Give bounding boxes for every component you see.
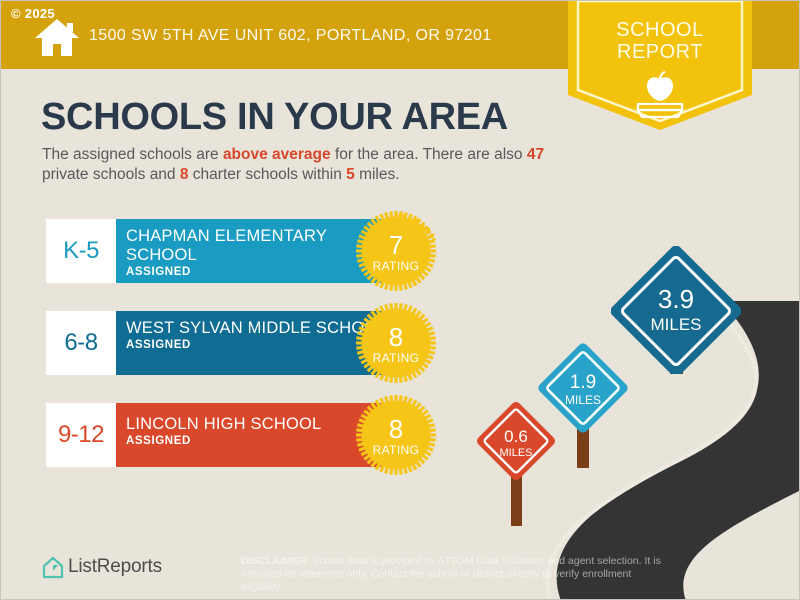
grade-range-box: 6-8 <box>46 311 116 375</box>
rating-value: 8 <box>356 322 436 353</box>
school-row-middle[interactable]: 6-8 WEST SYLVAN MIDDLE SCHOOL ASSIGNED <box>46 311 396 375</box>
badge-line-2: REPORT <box>568 41 752 63</box>
school-row-high[interactable]: 9-12 LINCOLN HIGH SCHOOL ASSIGNED <box>46 403 396 467</box>
subtitle-part-2: for the area. There are also <box>331 146 527 163</box>
sign-distance-value: 0.6 <box>504 427 528 446</box>
subtitle-text: The assigned schools are above average f… <box>42 145 562 185</box>
subtitle-part-5: miles. <box>355 166 400 183</box>
sign-unit-label: MILES <box>499 447 532 459</box>
badge-line-1: SCHOOL <box>568 19 752 41</box>
subtitle-part-1: The assigned schools are <box>42 146 223 163</box>
rating-caption: RATING <box>356 351 436 365</box>
disclaimer-title: DISCLAIMER <box>241 555 306 567</box>
grade-range-label: 6-8 <box>64 329 97 357</box>
rating-caption: RATING <box>356 443 436 457</box>
school-bar: WEST SYLVAN MIDDLE SCHOOL ASSIGNED <box>116 311 396 375</box>
listreports-logo[interactable]: ListReports <box>42 554 182 582</box>
subtitle-highlight-private-count: 47 <box>527 146 544 163</box>
badge-title: SCHOOL REPORT <box>568 19 752 63</box>
road-illustration: 3.9 MILES 1.9 MILES 0.6 MILES <box>471 246 800 600</box>
subtitle-part-4: charter schools within <box>188 166 346 183</box>
sign-distance-value: 1.9 <box>570 372 596 393</box>
grade-range-label: K-5 <box>63 237 99 265</box>
rating-caption: RATING <box>356 259 436 273</box>
subtitle-part-3: private schools and <box>42 166 180 183</box>
rating-badge: 8 RATING <box>356 303 436 383</box>
disclaimer-text: DISCLAIMER: School data is provided by A… <box>241 555 671 594</box>
sign-distance-value: 3.9 <box>658 284 694 314</box>
rating-badge: 7 RATING <box>356 211 436 291</box>
subtitle-highlight-radius: 5 <box>346 166 355 183</box>
house-logo-icon <box>42 556 64 580</box>
grade-range-box: K-5 <box>46 219 116 283</box>
page-title: SCHOOLS IN YOUR AREA <box>41 96 508 139</box>
school-report-badge: SCHOOL REPORT <box>568 0 752 129</box>
rating-value: 8 <box>356 414 436 445</box>
distance-sign-1: 0.6 MILES <box>471 396 563 531</box>
infographic-page: © 2025 1500 SW 5TH AVE UNIT 602, PORTLAN… <box>0 0 800 600</box>
property-address: 1500 SW 5TH AVE UNIT 602, PORTLAND, OR 9… <box>89 27 492 45</box>
rating-value: 7 <box>356 230 436 261</box>
subtitle-highlight-above-average: above average <box>223 146 331 163</box>
sign-unit-label: MILES <box>650 315 701 334</box>
listreports-logo-text: ListReports <box>68 556 162 578</box>
school-bar: CHAPMAN ELEMENTARY SCHOOL ASSIGNED <box>116 219 396 283</box>
school-row-elementary[interactable]: K-5 CHAPMAN ELEMENTARY SCHOOL ASSIGNED <box>46 219 396 283</box>
grade-range-label: 9-12 <box>58 421 104 449</box>
rating-badge: 8 RATING <box>356 395 436 475</box>
apple-and-book-icon <box>630 71 690 119</box>
grade-range-box: 9-12 <box>46 403 116 467</box>
home-icon <box>34 17 80 57</box>
school-bar: LINCOLN HIGH SCHOOL ASSIGNED <box>116 403 396 467</box>
sign-unit-label: MILES <box>565 393 601 407</box>
